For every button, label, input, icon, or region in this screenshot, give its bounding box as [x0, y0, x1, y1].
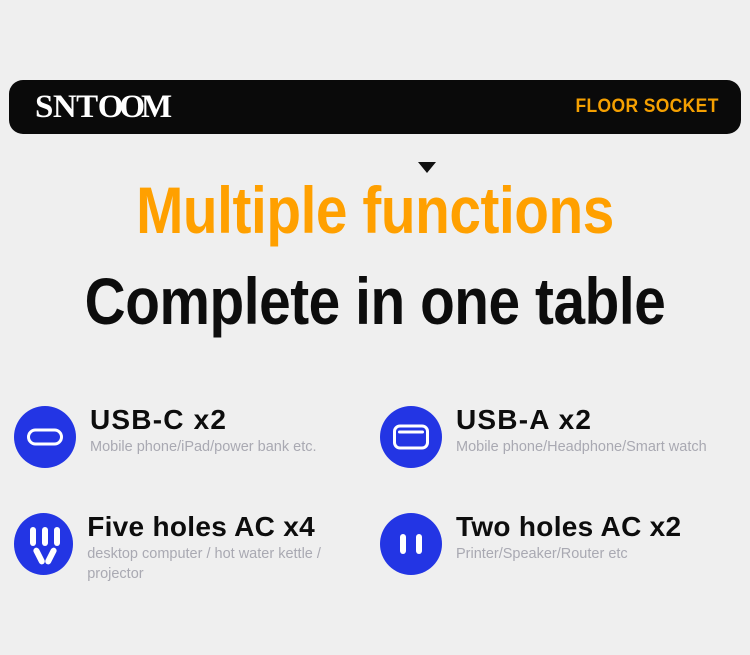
headline-line-1: Multiple functions	[53, 176, 698, 245]
header-tagline: FLOOR SOCKET	[576, 96, 719, 118]
header-bar: SNTOOM FLOOR SOCKET	[9, 80, 741, 134]
chevron-down-icon	[418, 162, 436, 173]
feature-title: USB-C x2	[90, 404, 317, 435]
socket-slot-angled-left	[32, 547, 46, 566]
usb-c-connector-glyph	[27, 429, 63, 446]
feature-item-usb-a: USB-A x2 Mobile phone/Headphone/Smart wa…	[368, 403, 750, 510]
two-hole-socket-glyph	[380, 513, 442, 575]
socket-slot-right	[54, 527, 60, 546]
feature-item-five-hole-ac: Five holes AC x4 desktop computer / hot …	[0, 510, 368, 584]
usb-a-port-icon	[380, 406, 442, 468]
socket-slot-left	[400, 534, 406, 554]
socket-slot-left	[30, 527, 36, 546]
usb-c-port-icon	[14, 406, 76, 468]
headline-line-2: Complete in one table	[53, 267, 698, 336]
brand-logo: SNTOOM	[35, 91, 172, 124]
two-hole-ac-socket-icon	[380, 513, 442, 575]
brand-logo-part-2: OO	[98, 91, 141, 124]
feature-text-five-hole-ac: Five holes AC x4 desktop computer / hot …	[73, 510, 368, 584]
feature-title: USB-A x2	[456, 404, 707, 435]
usb-a-connector-glyph	[393, 425, 429, 450]
product-banner-page: SNTOOM FLOOR SOCKET Multiple functions C…	[0, 0, 750, 655]
five-hole-ac-socket-icon	[14, 513, 73, 575]
feature-title: Five holes AC x4	[87, 511, 368, 542]
feature-description: Mobile phone/iPad/power bank etc.	[90, 438, 317, 458]
feature-text-usb-a: USB-A x2 Mobile phone/Headphone/Smart wa…	[442, 403, 707, 458]
socket-slot-middle	[42, 527, 48, 546]
socket-slot-angled-right	[44, 547, 58, 566]
feature-description: desktop computer / hot water kettle / pr…	[87, 545, 368, 584]
feature-description: Printer/Speaker/Router etc	[456, 545, 681, 565]
feature-text-usb-c: USB-C x2 Mobile phone/iPad/power bank et…	[76, 403, 317, 458]
feature-description: Mobile phone/Headphone/Smart watch	[456, 438, 707, 458]
feature-text-two-hole-ac: Two holes AC x2 Printer/Speaker/Router e…	[442, 510, 681, 565]
brand-logo-part-1: SNT	[35, 91, 98, 124]
socket-slot-right	[416, 534, 422, 554]
feature-item-two-hole-ac: Two holes AC x2 Printer/Speaker/Router e…	[368, 510, 750, 584]
feature-item-usb-c: USB-C x2 Mobile phone/iPad/power bank et…	[0, 403, 368, 510]
feature-list: USB-C x2 Mobile phone/iPad/power bank et…	[0, 403, 750, 584]
five-hole-socket-glyph	[14, 513, 73, 575]
headline-block: Multiple functions Complete in one table	[0, 176, 750, 337]
feature-title: Two holes AC x2	[456, 511, 681, 542]
brand-logo-part-3: M	[141, 91, 172, 124]
